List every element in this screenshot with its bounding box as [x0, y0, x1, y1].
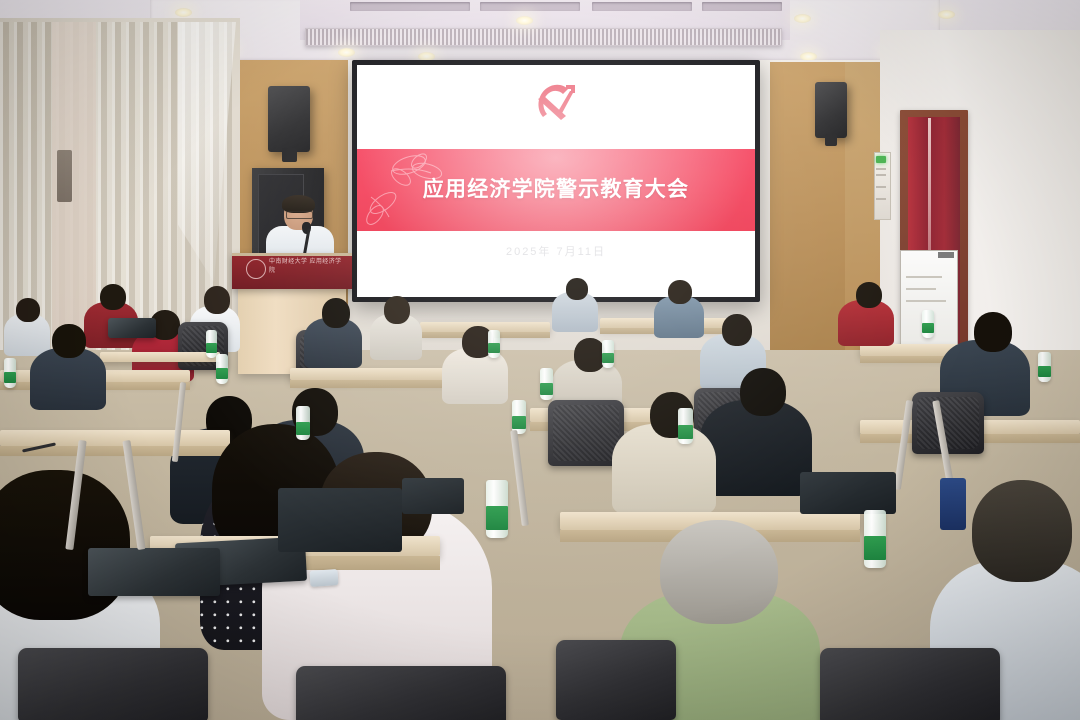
downlight [175, 8, 192, 17]
wall-vent-left [57, 150, 72, 202]
bottle-label [206, 343, 217, 353]
attendee-head [566, 278, 588, 300]
slide-title-text: 应用经济学院警示教育大会 [357, 149, 755, 231]
travel-mug[interactable] [940, 478, 966, 530]
bottle-label [4, 372, 16, 383]
attendee-head [722, 314, 752, 346]
bottle-label [540, 383, 553, 395]
attendee-torso [612, 424, 716, 514]
attendee-head [52, 324, 86, 358]
downlight [338, 48, 355, 57]
slide-title-band: 应用经济学院警示教育大会 [357, 149, 755, 231]
attendee-head [100, 284, 126, 310]
ceiling-air-vent [305, 28, 782, 46]
panel-line [876, 198, 886, 200]
flipchart-clip [938, 252, 954, 258]
panel-line [876, 168, 886, 170]
bottle-label [922, 323, 934, 333]
downlight [516, 16, 533, 25]
laptop-open-screen[interactable] [402, 478, 464, 514]
laptop-open-screen[interactable] [278, 488, 402, 552]
ceiling-slot [592, 2, 692, 11]
bottle-label [864, 536, 886, 560]
presentation-slide: 应用经济学院警示教育大会 2025年 7月11日 [357, 65, 755, 297]
attendee-head [972, 480, 1072, 582]
laptop-closed[interactable] [88, 548, 220, 596]
desk [100, 352, 220, 362]
wall-speaker-left [268, 86, 310, 152]
attendee-head [204, 286, 230, 314]
attendee-head [974, 312, 1012, 352]
laptop-closed[interactable] [108, 318, 156, 338]
flipchart-line [906, 300, 946, 302]
conference-room-photo: 应用经济学院警示教育大会 2025年 7月11日 中南财经大学 应用经济学院 [0, 0, 1080, 720]
chair-mesh [553, 405, 619, 461]
bottle-label [678, 425, 693, 439]
cpc-hammer-sickle-emblem [530, 79, 582, 125]
bottle-label [296, 422, 310, 435]
flipchart-line [906, 276, 942, 278]
wall-speaker-right-mount [825, 134, 837, 146]
downlight [938, 10, 955, 19]
panel-line [876, 186, 886, 188]
chair-back [18, 648, 208, 720]
bottle-label [602, 353, 614, 363]
status-led-indicator [876, 156, 886, 163]
bottle-label [216, 368, 228, 379]
attendee-head [384, 296, 410, 324]
projection-screen-bezel: 应用经济学院警示教育大会 2025年 7月11日 [352, 60, 760, 302]
desk-front [290, 380, 460, 388]
laptop-open-screen[interactable] [800, 472, 896, 514]
presenter-glasses [286, 211, 313, 219]
chair-back [556, 640, 676, 720]
bottle-label [1038, 366, 1051, 377]
chair-back [296, 666, 506, 720]
attendee-head [740, 368, 786, 416]
downlight [794, 14, 811, 23]
attendee-head [16, 298, 40, 322]
ceiling-slot [350, 2, 470, 11]
smartphone[interactable] [309, 569, 338, 587]
chair-back [820, 648, 1000, 720]
chair-mesh [917, 397, 979, 449]
bottle-label [488, 343, 500, 353]
attendee-head [668, 280, 692, 304]
university-seal-logo [246, 259, 266, 279]
podium-sign-text: 中南财经大学 应用经济学院 [269, 258, 345, 278]
flipchart-line [906, 288, 936, 290]
ceiling-slot [480, 2, 580, 11]
wall-speaker-left-mount [282, 148, 297, 162]
panel-line [876, 174, 886, 176]
wall-speaker-right [815, 82, 847, 138]
desk [0, 430, 230, 446]
bottle-label [486, 506, 508, 530]
attendee-head [856, 282, 882, 308]
ceiling-slot [702, 2, 782, 11]
attendee-head [660, 520, 778, 624]
desk [290, 368, 460, 380]
bottle-label [512, 416, 526, 429]
slide-date-text: 2025年 7月11日 [357, 243, 755, 259]
attendee-head [322, 298, 350, 328]
